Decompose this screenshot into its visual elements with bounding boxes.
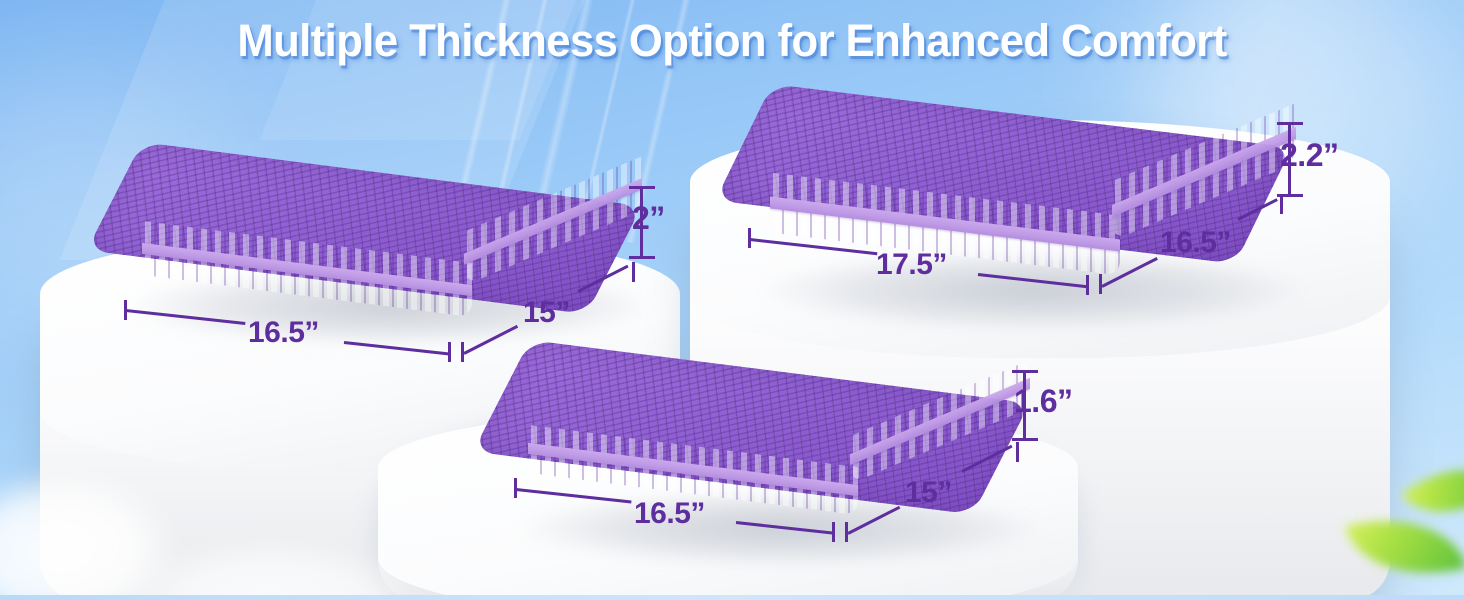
dim-left-depth-tick-end: [632, 262, 635, 282]
leaf-upper-icon: [1401, 442, 1464, 541]
cushion-center-body: [516, 340, 1036, 518]
page-title: Multiple Thickness Option for Enhanced C…: [22, 14, 1442, 68]
dim-left-thick-label: 2”: [632, 200, 665, 237]
dim-center-thick-label: 1.6”: [1014, 383, 1072, 420]
dim-center-thick-cap-bottom: [1012, 438, 1038, 441]
dim-center-width-label: 16.5”: [634, 497, 705, 531]
dim-left-thick-cap-bottom: [629, 256, 655, 259]
infographic-canvas: Multiple Thickness Option for Enhanced C…: [0, 0, 1464, 600]
bottom-edge-strip: [0, 595, 1464, 600]
dim-right-thick-cap-bottom: [1277, 194, 1303, 197]
cushion-left-body: [128, 142, 648, 320]
dim-right-width-tick-end: [1086, 275, 1089, 295]
dim-left-width-tick-end: [448, 342, 451, 362]
dim-left-width-label: 16.5”: [248, 316, 319, 350]
dim-right-depth-label: 16.5”: [1160, 226, 1231, 260]
dim-right-width-label: 17.5”: [876, 248, 947, 282]
dim-left-depth-label: 15”: [523, 296, 570, 330]
dim-center-depth-tick-end: [1016, 442, 1019, 462]
dim-center-width-tick-end: [832, 522, 835, 542]
dim-right-thick-label: 2.2”: [1280, 137, 1338, 174]
dim-right-depth-tick-end: [1280, 194, 1283, 214]
dim-center-depth-label: 15”: [905, 476, 952, 510]
